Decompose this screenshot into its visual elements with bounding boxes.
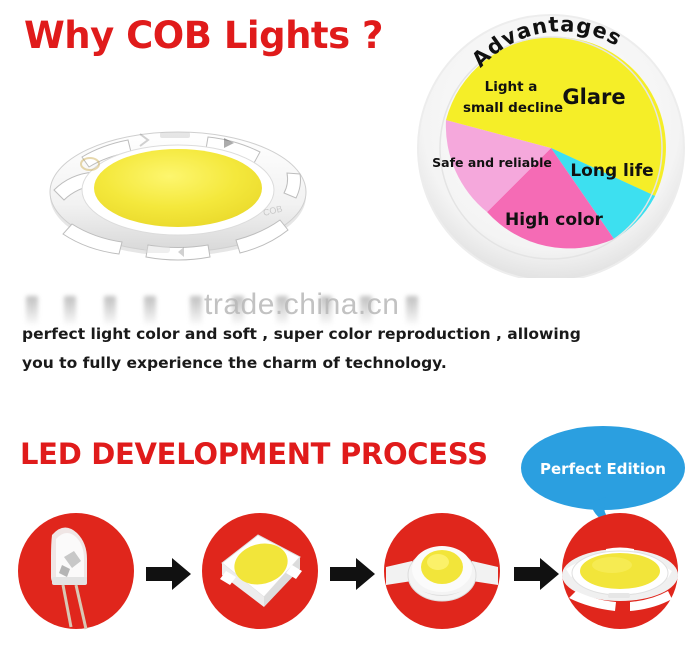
description-line-2: you to fully experience the charm of tec… (22, 349, 542, 378)
process-arrow-3 (514, 557, 560, 591)
pie-label-long-life: Long life (570, 161, 653, 181)
pie-label-light-a: Light a (485, 79, 538, 95)
cob-chip-illustration: COB (28, 104, 328, 274)
high-power-led-illustration (378, 505, 506, 640)
process-step-high-power-led (378, 505, 506, 640)
speech-bubble-label: Perfect Edition (540, 460, 666, 478)
process-arrow-2 (330, 557, 376, 591)
page-title-why-cob: Why COB Lights ? (24, 14, 383, 57)
advantages-pie-svg: Glare Long life High color Safe and reli… (412, 0, 690, 278)
cob-chip-image: COB (28, 104, 328, 274)
process-step-smd-led (196, 505, 324, 640)
process-arrow-1 (146, 557, 192, 591)
cob-phosphor-surface (94, 149, 262, 227)
arrow-right-icon (330, 557, 376, 591)
advantages-pie-chart: Glare Long life High color Safe and reli… (412, 0, 690, 278)
cob-led-illustration (556, 505, 684, 640)
pie-label-safe-reliable: Safe and reliable (432, 155, 552, 170)
pie-label-small-decline: small decline (463, 100, 563, 116)
description-line-1: perfect light color and soft , super col… (22, 320, 542, 349)
process-step-cob-led (556, 505, 684, 640)
led-process-row (0, 505, 692, 647)
pie-label-high-color: High color (505, 210, 604, 230)
pie-label-glare: Glare (562, 85, 625, 109)
arrow-right-icon (514, 557, 560, 591)
arrow-right-icon (146, 557, 192, 591)
through-hole-led-illustration (12, 505, 140, 640)
description-paragraph: perfect light color and soft , super col… (22, 320, 542, 378)
section-title-led-process: LED DEVELOPMENT PROCESS (20, 437, 488, 471)
watermark-text: trade.china.cn (204, 288, 399, 322)
process-step-through-hole-led (12, 505, 140, 640)
poster-canvas: Why COB Lights ? (0, 0, 692, 647)
smd-led-illustration (196, 505, 324, 640)
